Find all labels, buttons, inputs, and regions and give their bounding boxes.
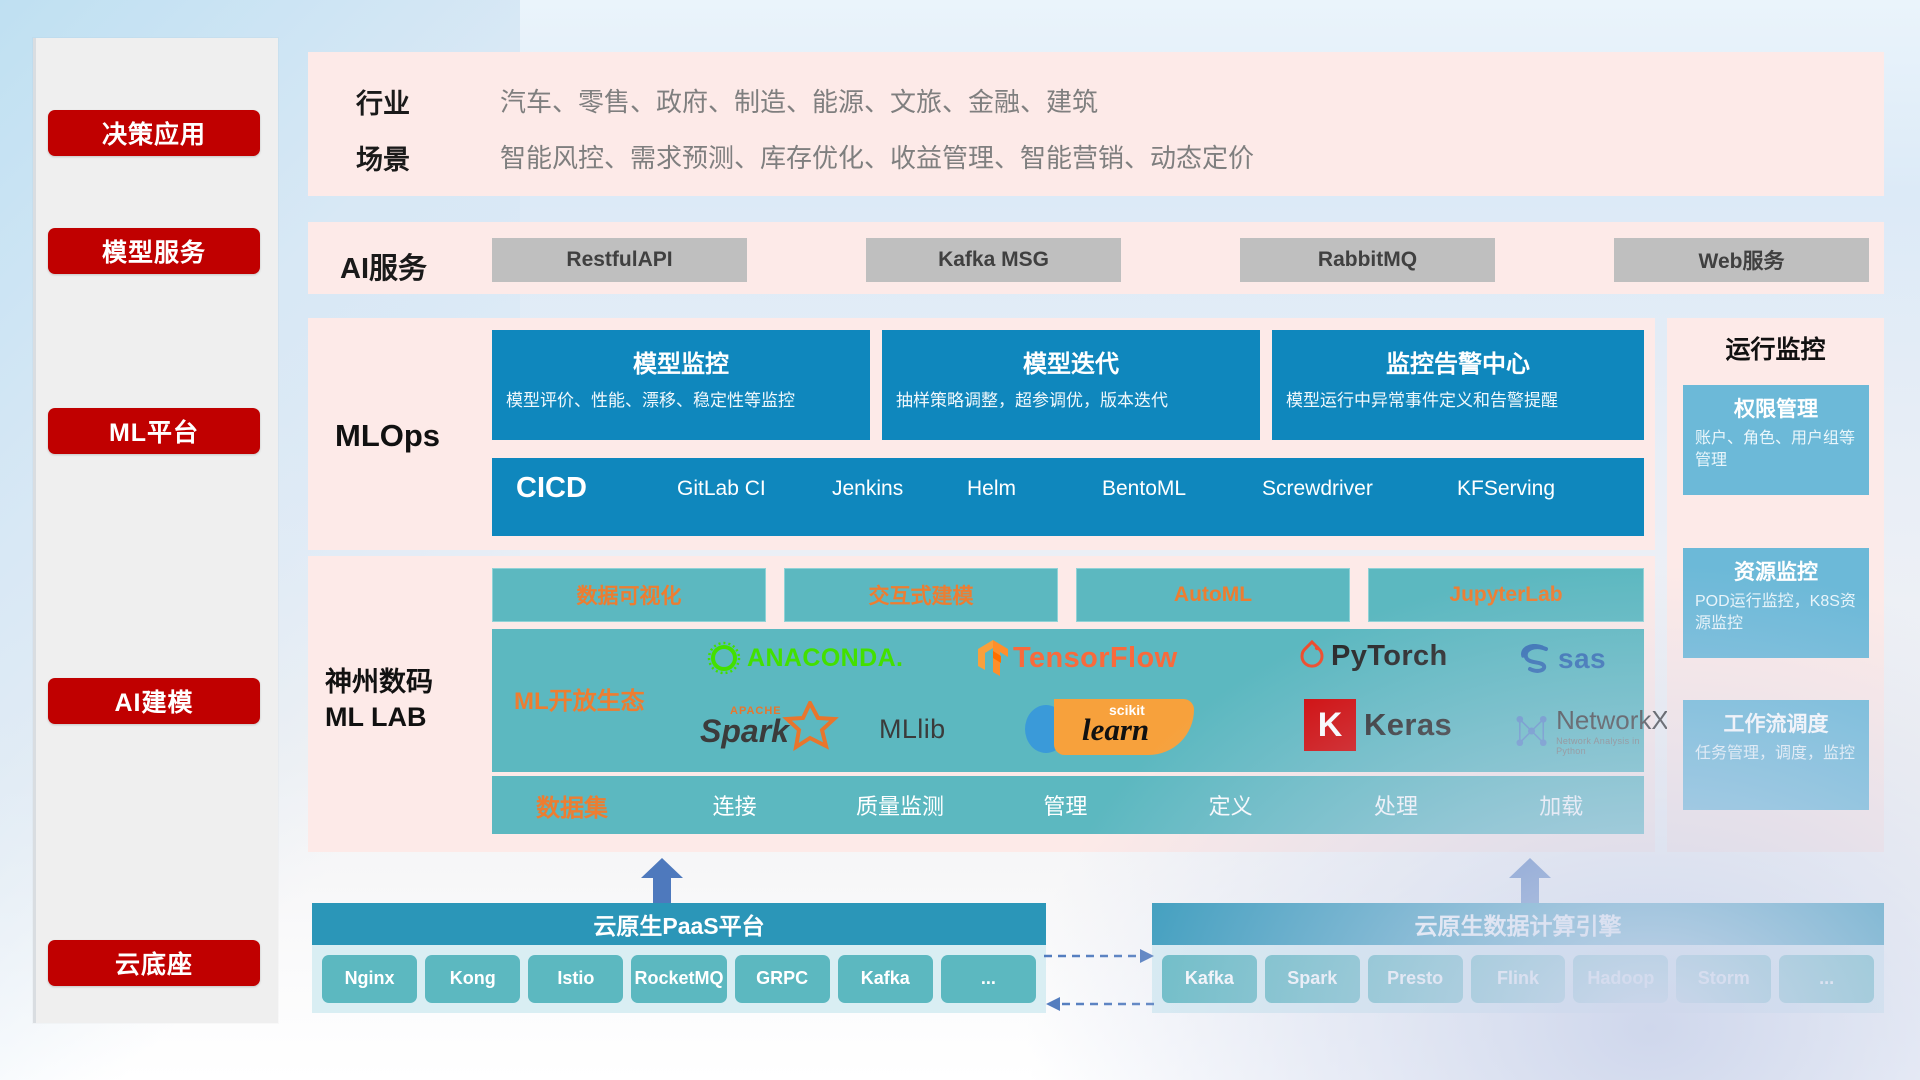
anaconda-logo: ANACONDA. (707, 641, 903, 675)
tool-chip-data-visualization[interactable]: 数据可视化 (492, 568, 766, 622)
cloud-chip-more2[interactable]: ... (1779, 955, 1874, 1003)
stage-pill-model-service[interactable]: 模型服务 (48, 228, 260, 274)
ai-service-label: AI服务 (340, 245, 427, 287)
cloud-paas-tray: Nginx Kong Istio RocketMQ GRPC Kafka ... (312, 945, 1046, 1013)
spark-mllib-logo: APACHE Spark MLlib (692, 701, 946, 757)
learn-text: learn (1082, 712, 1149, 748)
tool-chip-automl[interactable]: AutoML (1076, 568, 1350, 622)
monitor-card-permission[interactable]: 权限管理 账户、角色、用户组等管理 (1683, 385, 1869, 495)
service-chip-kafka-msg[interactable]: Kafka MSG (866, 238, 1121, 282)
tensorflow-logo: TensorFlow (977, 639, 1178, 677)
anaconda-wordmark: ANACONDA. (747, 644, 903, 673)
card-desc: 账户、角色、用户组等管理 (1695, 428, 1857, 473)
cloud-data-engine-tray: Kafka Spark Presto Flink Hadoop Storm ..… (1152, 945, 1884, 1013)
cloud-chip-istio[interactable]: Istio (528, 955, 623, 1003)
card-title: 权限管理 (1695, 393, 1857, 423)
cloud-chip-hadoop[interactable]: Hadoop (1573, 955, 1668, 1003)
dataset-item-connect[interactable]: 连接 (652, 789, 817, 821)
card-desc: 模型评价、性能、漂移、稳定性等监控 (506, 389, 856, 414)
industry-text: 汽车、零售、政府、制造、能源、文旅、金融、建筑 (500, 82, 1098, 119)
cloud-chip-kafka2[interactable]: Kafka (1162, 955, 1257, 1003)
tool-chip-jupyterlab[interactable]: JupyterLab (1368, 568, 1644, 622)
dataset-item-manage[interactable]: 管理 (983, 789, 1148, 821)
sas-mark (1520, 644, 1556, 674)
stage-label: 云底座 (115, 945, 193, 981)
cloud-chip-storm[interactable]: Storm (1676, 955, 1771, 1003)
chip-label: RestfulAPI (566, 248, 672, 272)
card-desc: 任务管理，调度，监控 (1695, 743, 1857, 765)
cloud-paas-header: 云原生PaaS平台 (312, 903, 1046, 945)
dataset-item-load[interactable]: 加载 (1479, 789, 1644, 821)
up-arrow-paas-icon (640, 858, 684, 904)
mlops-card-model-monitoring[interactable]: 模型监控 模型评价、性能、漂移、稳定性等监控 (492, 330, 870, 440)
chip-label: RabbitMQ (1318, 248, 1417, 272)
pytorch-mark (1297, 639, 1327, 673)
scenario-label: 场景 (356, 138, 410, 177)
card-desc: 模型运行中异常事件定义和告警提醒 (1286, 389, 1630, 414)
dashed-arrow-right-icon (1040, 940, 1160, 1020)
spark-mark: APACHE Spark (692, 701, 877, 757)
card-desc: POD运行监控，K8S资源监控 (1695, 591, 1857, 636)
chip-label: Kafka MSG (938, 248, 1049, 272)
stage-label: AI建模 (114, 683, 193, 719)
stage-label: ML平台 (109, 413, 199, 449)
stage-pill-ai-modeling[interactable]: AI建模 (48, 678, 260, 724)
dataset-label: 数据集 (492, 788, 652, 823)
keras-logo: K Keras (1304, 699, 1452, 751)
pytorch-wordmark: PyTorch (1331, 640, 1448, 673)
networkx-mark (1512, 709, 1551, 753)
keras-wordmark: Keras (1364, 707, 1452, 743)
cicd-bar: CICD GitLab CI Jenkins Helm BentoML Scre… (492, 458, 1644, 536)
tensorflow-wordmark: TensorFlow (1013, 642, 1178, 675)
chip-label: JupyterLab (1449, 583, 1562, 607)
cloud-chip-kong[interactable]: Kong (425, 955, 520, 1003)
cicd-item-screwdriver[interactable]: Screwdriver (1262, 476, 1412, 502)
dataset-item-define[interactable]: 定义 (1148, 789, 1313, 821)
service-chip-restfulapi[interactable]: RestfulAPI (492, 238, 747, 282)
cloud-chip-flink[interactable]: Flink (1471, 955, 1566, 1003)
scenario-text: 智能风控、需求预测、库存优化、收益管理、智能营销、动态定价 (500, 138, 1254, 175)
cicd-item-helm[interactable]: Helm (967, 476, 1075, 502)
cloud-chip-grpc[interactable]: GRPC (735, 955, 830, 1003)
service-chip-rabbitmq[interactable]: RabbitMQ (1240, 238, 1495, 282)
industry-label: 行业 (356, 82, 410, 121)
mlops-card-alert-center[interactable]: 监控告警中心 模型运行中异常事件定义和告警提醒 (1272, 330, 1644, 440)
cicd-title: CICD (516, 472, 587, 505)
scikit-learn-logo: scikit learn (1022, 699, 1194, 755)
scikit-orange-blob: scikit learn (1054, 699, 1194, 755)
chip-label: 数据可视化 (577, 580, 682, 610)
stage-rail (33, 38, 278, 1023)
networkx-wordmark: NetworkX (1556, 705, 1670, 736)
monitor-card-resource[interactable]: 资源监控 POD运行监控，K8S资源监控 (1683, 548, 1869, 658)
scikit-blue-blob (1022, 699, 1070, 755)
mllib-wordmark: MLlib (879, 714, 946, 745)
mlops-label: MLOps (335, 418, 440, 454)
mlops-card-model-iteration[interactable]: 模型迭代 抽样策略调整，超参调优，版本迭代 (882, 330, 1260, 440)
cloud-chip-rocketmq[interactable]: RocketMQ (631, 955, 726, 1003)
sas-logo: sas (1520, 643, 1606, 675)
networkx-tagline: Network Analysis in Python (1556, 736, 1670, 756)
keras-k-glyph: K (1318, 706, 1343, 745)
stage-label: 决策应用 (102, 115, 206, 151)
card-title: 工作流调度 (1695, 708, 1857, 738)
dataset-bar: 数据集 连接 质量监测 管理 定义 处理 加载 (492, 776, 1644, 834)
pytorch-logo: PyTorch (1297, 639, 1448, 673)
cloud-chip-spark[interactable]: Spark (1265, 955, 1360, 1003)
tensorflow-mark (977, 639, 1009, 677)
cicd-item-jenkins[interactable]: Jenkins (832, 476, 940, 502)
service-chip-web-service[interactable]: Web服务 (1614, 238, 1869, 282)
card-desc: 抽样策略调整，超参调优，版本迭代 (896, 389, 1246, 414)
tool-chip-interactive-modeling[interactable]: 交互式建模 (784, 568, 1058, 622)
cicd-item-gitlab-ci[interactable]: GitLab CI (677, 476, 785, 502)
cloud-data-engine-header: 云原生数据计算引擎 (1152, 903, 1884, 945)
chip-label: 交互式建模 (869, 580, 974, 610)
stage-pill-decision-app[interactable]: 决策应用 (48, 110, 260, 156)
cloud-chip-kafka[interactable]: Kafka (838, 955, 933, 1003)
ml-lab-label-cn: 神州数码 (325, 665, 433, 700)
cloud-chip-presto[interactable]: Presto (1368, 955, 1463, 1003)
chip-label: Web服务 (1699, 245, 1785, 275)
cloud-chip-more[interactable]: ... (941, 955, 1036, 1003)
card-title: 资源监控 (1695, 556, 1857, 586)
monitor-card-workflow[interactable]: 工作流调度 任务管理，调度，监控 (1683, 700, 1869, 810)
networkx-text-group: NetworkX Network Analysis in Python (1556, 705, 1670, 756)
stage-pill-ml-platform[interactable]: ML平台 (48, 408, 260, 454)
ml-ecosystem-box: ML开放生态 ANACONDA. TensorFlow PyTorc (492, 629, 1644, 772)
up-arrow-data-engine-icon (1508, 858, 1552, 904)
networkx-logo: NetworkX Network Analysis in Python (1512, 705, 1670, 756)
ml-lab-label-en: ML LAB (325, 700, 433, 735)
stage-pill-cloud-base[interactable]: 云底座 (48, 940, 260, 986)
cloud-chip-nginx[interactable]: Nginx (322, 955, 417, 1003)
anaconda-mark (707, 641, 741, 675)
ml-lab-label: 神州数码 ML LAB (325, 665, 433, 735)
card-title: 监控告警中心 (1286, 344, 1630, 379)
ml-ecosystem-label: ML开放生态 (514, 681, 645, 716)
diagram-canvas: 决策应用 模型服务 ML平台 AI建模 云底座 行业 汽车、零售、政府、制造、能… (0, 0, 1920, 1080)
keras-mark: K (1304, 699, 1356, 751)
chip-label: AutoML (1174, 583, 1252, 607)
cicd-item-kfserving[interactable]: KFServing (1457, 476, 1607, 502)
cicd-item-bentoml[interactable]: BentoML (1102, 476, 1210, 502)
dataset-item-process[interactable]: 处理 (1313, 789, 1478, 821)
sas-wordmark: sas (1558, 643, 1606, 675)
stage-label: 模型服务 (102, 233, 206, 269)
monitoring-panel-title: 运行监控 (1667, 330, 1884, 366)
spark-wordmark: Spark (700, 713, 789, 750)
scikit-text: scikit (1109, 702, 1145, 718)
dataset-item-quality[interactable]: 质量监测 (817, 789, 982, 821)
card-title: 模型迭代 (896, 344, 1246, 379)
card-title: 模型监控 (506, 344, 856, 379)
